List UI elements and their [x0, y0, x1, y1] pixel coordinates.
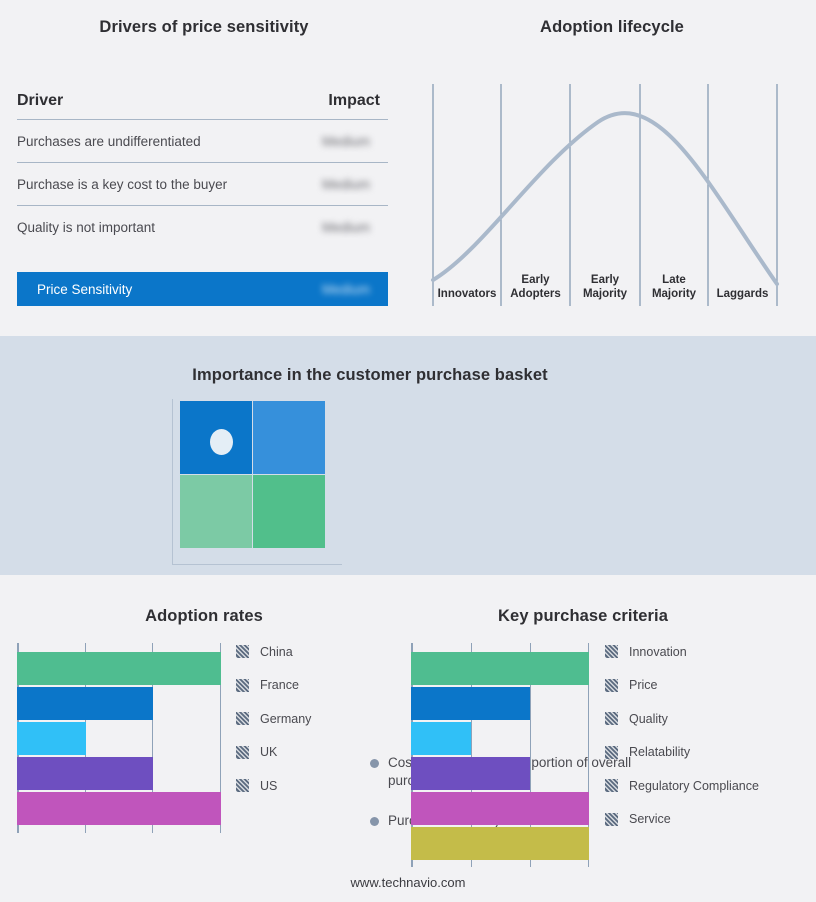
bar-regulatory-compliance — [411, 792, 589, 825]
legend-label: Service — [629, 812, 671, 826]
adoption-rates-panel: Adoption rates — [0, 575, 408, 902]
legend-label: Innovation — [629, 645, 687, 659]
legend-label: France — [260, 678, 299, 692]
bar-row — [17, 687, 221, 720]
legend-label: Germany — [260, 712, 311, 726]
price-sensitivity-row: Price Sensitivity Medium — [17, 272, 388, 306]
legend-swatch-icon — [605, 746, 618, 759]
legend-swatch-icon — [605, 712, 618, 725]
stage-label-laggards: Laggards — [708, 287, 777, 301]
legend-swatch-icon — [605, 813, 618, 826]
bar-price — [411, 687, 530, 720]
impact-value: Medium — [322, 177, 388, 192]
column-header-impact: Impact — [328, 92, 388, 110]
bar-row — [17, 652, 221, 685]
legend-label: Quality — [629, 712, 668, 726]
bar-row — [411, 687, 589, 720]
drivers-panel: Drivers of price sensitivity Driver Impa… — [0, 0, 408, 336]
legend-item-china: China — [236, 635, 311, 669]
bar-row — [411, 827, 589, 860]
legend-swatch-icon — [236, 746, 249, 759]
table-row: Purchase is a key cost to the buyer Medi… — [17, 163, 388, 206]
legend-item-germany: Germany — [236, 702, 311, 736]
legend-label: UK — [260, 745, 277, 759]
driver-name: Purchases are undifferentiated — [17, 134, 201, 149]
bar-row — [17, 722, 221, 755]
quadrant-x-axis — [172, 564, 342, 565]
legend-item-relatability: Relatability — [605, 736, 759, 770]
table-row: Purchases are undifferentiated Medium — [17, 120, 388, 163]
legend-label: China — [260, 645, 293, 659]
driver-name: Purchase is a key cost to the buyer — [17, 177, 227, 192]
bar-china — [17, 652, 221, 685]
stage-label-early-majority: Early Majority — [570, 273, 640, 301]
adoption-rates-title: Adoption rates — [0, 607, 408, 626]
legend-label: Relatability — [629, 745, 690, 759]
bar-relatability — [411, 757, 530, 790]
column-header-driver: Driver — [17, 92, 63, 110]
footer-url: www.technavio.com — [0, 875, 816, 890]
bar-row — [411, 757, 589, 790]
legend-swatch-icon — [236, 679, 249, 692]
bar-row — [17, 757, 221, 790]
adoption-rates-legend: China France Germany UK US — [236, 635, 311, 803]
bar-uk — [17, 757, 153, 790]
bar-row — [17, 792, 221, 825]
legend-swatch-icon — [236, 712, 249, 725]
quadrant-bottom-right — [253, 475, 325, 548]
legend-item-uk: UK — [236, 736, 311, 770]
table-header-row: Driver Impact — [17, 92, 388, 120]
bar-france — [17, 687, 153, 720]
importance-panel: Importance in the customer purchase bask… — [0, 336, 816, 575]
legend-label: Price — [629, 678, 657, 692]
legend-item-price: Price — [605, 669, 759, 703]
stage-label-late-majority: Late Majority — [640, 273, 708, 301]
bar-quality — [411, 722, 471, 755]
legend-swatch-icon — [605, 679, 618, 692]
key-purchase-criteria-legend: Innovation Price Quality Relatability Re… — [605, 635, 759, 836]
quadrant-chart — [180, 401, 326, 549]
bar-row — [411, 722, 589, 755]
impact-value: Medium — [322, 134, 388, 149]
adoption-rates-plot — [17, 643, 221, 833]
driver-name: Quality is not important — [17, 220, 155, 235]
legend-label: Regulatory Compliance — [629, 779, 759, 793]
table-row: Quality is not important Medium — [17, 206, 388, 248]
legend-item-us: US — [236, 769, 311, 803]
bar-service — [411, 827, 589, 860]
legend-item-service: Service — [605, 803, 759, 837]
bar-germany — [17, 722, 86, 755]
quadrant-top-right — [253, 401, 325, 474]
impact-value: Medium — [322, 220, 388, 235]
legend-item-innovation: Innovation — [605, 635, 759, 669]
legend-swatch-icon — [236, 779, 249, 792]
legend-item-quality: Quality — [605, 702, 759, 736]
bar-row — [411, 792, 589, 825]
key-purchase-criteria-title: Key purchase criteria — [400, 607, 766, 626]
infographic-page: Drivers of price sensitivity Driver Impa… — [0, 0, 816, 902]
legend-swatch-icon — [605, 779, 618, 792]
importance-title: Importance in the customer purchase bask… — [0, 366, 740, 385]
lifecycle-panel: Adoption lifecycle Innovators Early Adop… — [408, 0, 816, 336]
bar-us — [17, 792, 221, 825]
drivers-title: Drivers of price sensitivity — [0, 18, 408, 37]
stage-label-innovators: Innovators — [433, 287, 501, 301]
legend-item-regulatory-compliance: Regulatory Compliance — [605, 769, 759, 803]
quadrant-bottom-left — [180, 475, 252, 548]
legend-label: US — [260, 779, 277, 793]
impact-value: Medium — [322, 282, 388, 297]
stage-label-early-adopters: Early Adopters — [501, 273, 570, 301]
position-marker-icon — [210, 429, 233, 455]
legend-swatch-icon — [605, 645, 618, 658]
driver-name: Price Sensitivity — [17, 282, 132, 297]
drivers-table: Driver Impact Purchases are undifferenti… — [17, 92, 388, 248]
key-purchase-criteria-panel: Key purchase criteria — [400, 575, 816, 902]
bar-innovation — [411, 652, 589, 685]
lifecycle-stage-labels: Innovators Early Adopters Early Majority… — [408, 0, 816, 336]
key-purchase-criteria-plot — [411, 643, 589, 867]
quadrant-y-axis — [172, 399, 173, 565]
legend-item-france: France — [236, 669, 311, 703]
legend-swatch-icon — [236, 645, 249, 658]
bar-row — [411, 652, 589, 685]
